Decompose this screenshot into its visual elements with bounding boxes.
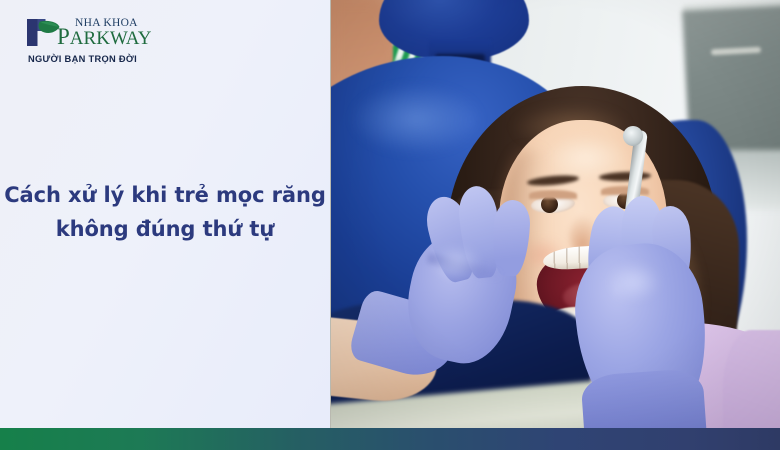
parkway-leaf-logo-icon xyxy=(27,18,61,48)
bottom-accent-bar xyxy=(0,428,780,450)
logo-row: NHA KHOA PARKWAY xyxy=(27,16,167,52)
brand-logo[interactable]: NHA KHOA PARKWAY NGƯỜI BẠN TRỌN ĐỜI xyxy=(27,16,167,74)
dental-clinic-banner: NHA KHOA PARKWAY NGƯỜI BẠN TRỌN ĐỜI Cách… xyxy=(0,0,780,450)
headline-line-2: không đúng thứ tự xyxy=(0,212,330,246)
logo-name-main-initial: P xyxy=(57,24,70,49)
logo-name-main-rest: ARKWAY xyxy=(70,28,152,49)
left-text-panel: NHA KHOA PARKWAY NGƯỜI BẠN TRỌN ĐỜI Cách… xyxy=(0,0,330,428)
page-title: Cách xử lý khi trẻ mọc răng không đúng t… xyxy=(0,178,330,246)
logo-wordmark: NHA KHOA PARKWAY xyxy=(57,16,169,50)
logo-name-main: PARKWAY xyxy=(57,26,151,50)
brand-tagline: NGƯỜI BẠN TRỌN ĐỜI xyxy=(28,54,137,64)
hero-photo xyxy=(330,0,780,428)
headline-line-1: Cách xử lý khi trẻ mọc răng xyxy=(0,178,330,212)
photo-vignette xyxy=(331,0,780,428)
photo-canvas xyxy=(331,0,780,428)
